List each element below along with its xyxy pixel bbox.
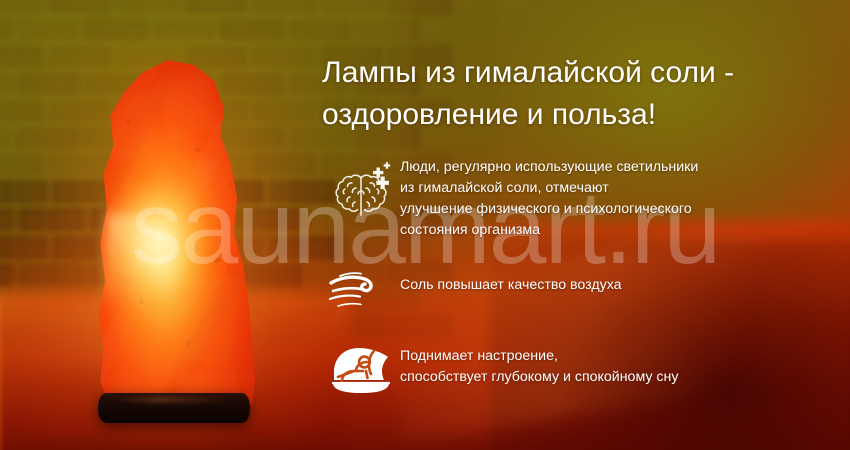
feature-line: состояния организма: [400, 220, 698, 241]
feature-line: Люди, регулярно использующие светильники: [400, 157, 698, 178]
sleeping-person-icon: [322, 338, 400, 394]
feature-text-air-quality: Соль повышает качество воздуха: [400, 265, 622, 296]
headline-line-2: оздоровление и польза!: [322, 94, 842, 136]
feature-item-health: Люди, регулярно использующие светильники…: [322, 155, 842, 241]
wind-icon: [322, 265, 400, 313]
feature-line: Соль повышает качество воздуха: [400, 275, 622, 296]
salt-lamp-promo-banner: saunamart.ru Лампы из гималайской соли -…: [0, 0, 850, 450]
feature-item-air-quality: Соль повышает качество воздуха: [322, 265, 842, 313]
feature-line: способствует глубокому и спокойному сну: [400, 367, 678, 388]
page-title: Лампы из гималайской соли - оздоровление…: [322, 52, 842, 136]
headline-line-1: Лампы из гималайской соли -: [322, 52, 842, 94]
feature-line: Поднимает настроение,: [400, 346, 678, 367]
feature-text-health: Люди, регулярно использующие светильники…: [400, 155, 698, 241]
feature-line: из гималайской соли, отмечают: [400, 178, 698, 199]
salt-lamp-base-highlight: [112, 396, 232, 403]
feature-item-sleep: Поднимает настроение, способствует глубо…: [322, 338, 842, 394]
feature-text-sleep: Поднимает настроение, способствует глубо…: [400, 338, 678, 388]
brain-icon: [322, 155, 400, 223]
feature-list: Люди, регулярно использующие светильники…: [322, 155, 842, 394]
feature-line: улучшение физического и психологического: [400, 199, 698, 220]
